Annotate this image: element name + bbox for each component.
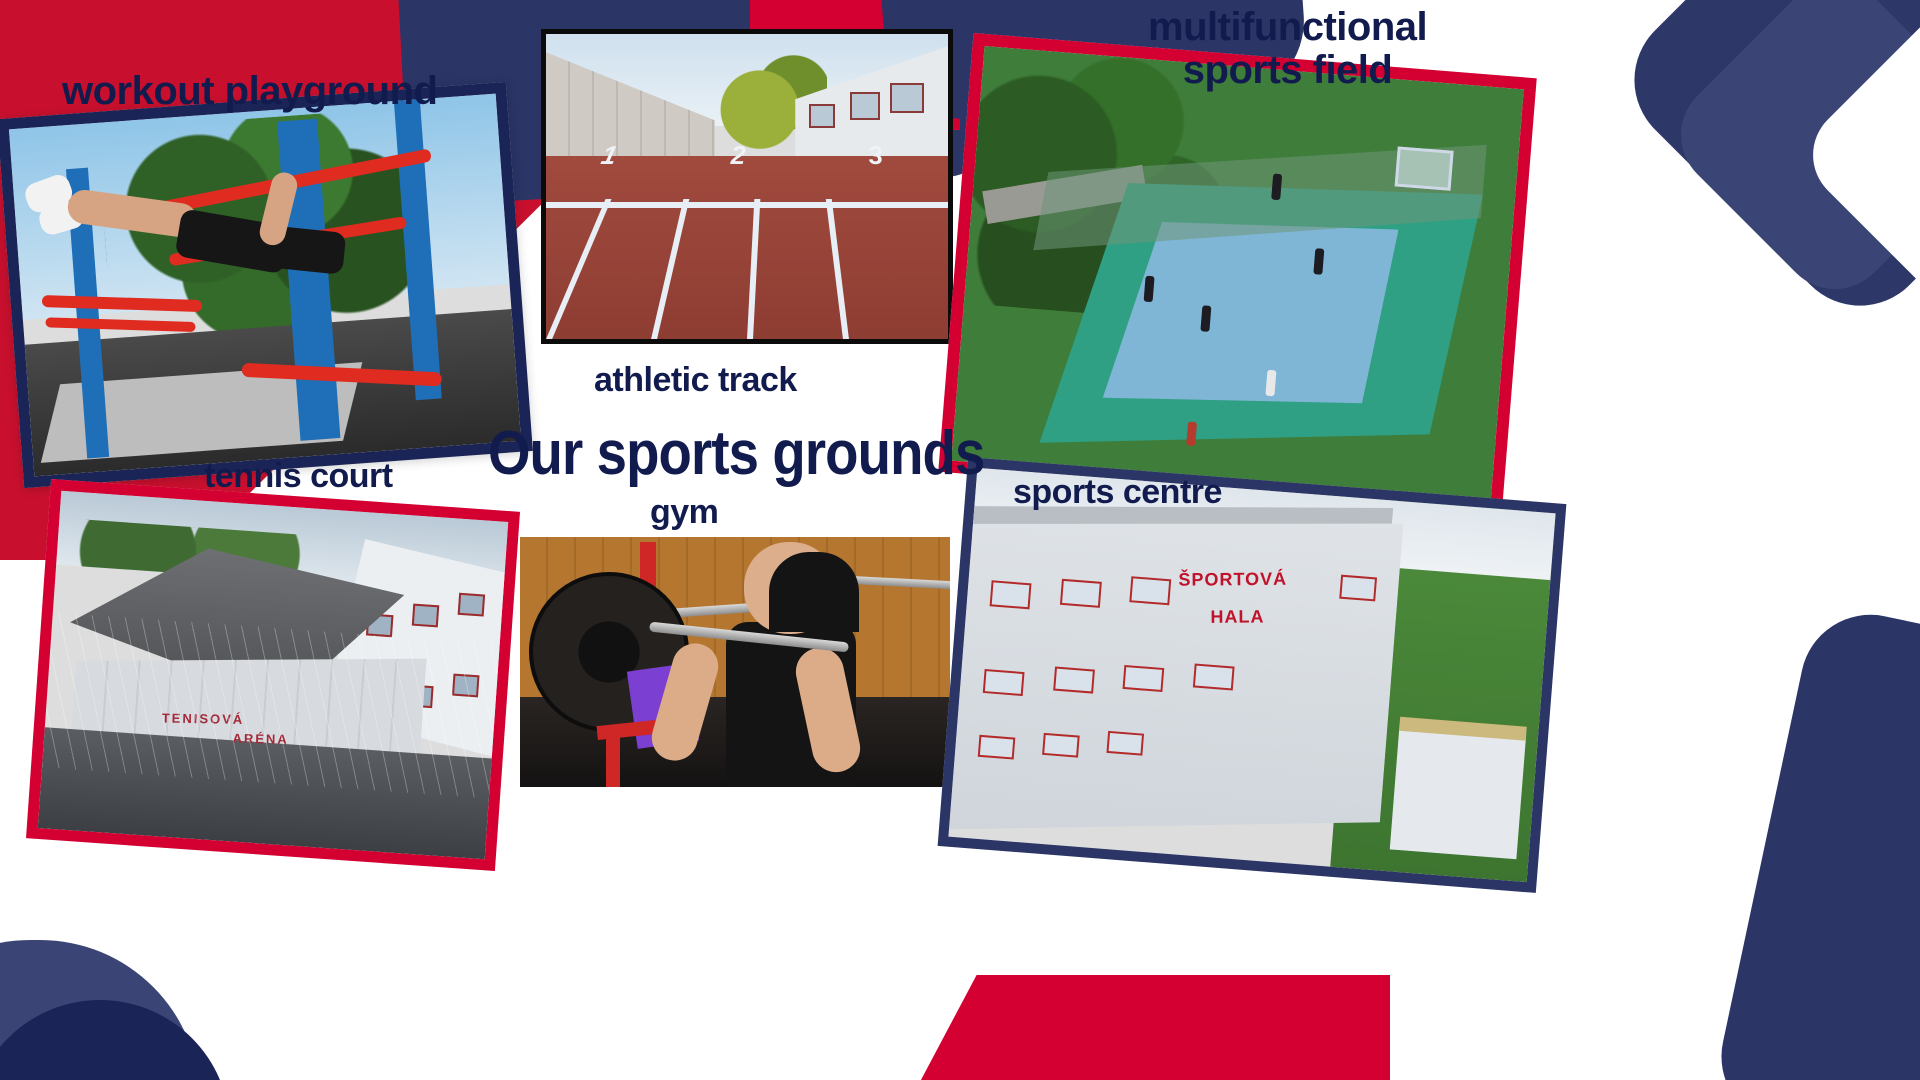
lifter-shirt-shoulder bbox=[769, 552, 859, 632]
photo-card-workout-playground[interactable] bbox=[0, 82, 533, 488]
photo-athletic-track: 1 2 3 bbox=[546, 34, 948, 339]
building-window bbox=[1042, 733, 1080, 758]
decor-red-trapezoid-bottom bbox=[860, 975, 1390, 1080]
sportova-sign-line1: ŠPORTOVÁ bbox=[1178, 569, 1287, 591]
label-field-line2: sports field bbox=[1148, 49, 1427, 92]
label-workout-playground: workout playground bbox=[62, 70, 437, 113]
building-window bbox=[990, 580, 1032, 609]
label-multifunctional-sports-field: multifunctional sports field bbox=[1148, 6, 1427, 92]
building-window bbox=[850, 92, 880, 120]
photo-sports-centre: ŠPORTOVÁ HALA bbox=[948, 468, 1555, 882]
building-window bbox=[1339, 574, 1377, 601]
start-line bbox=[546, 202, 948, 208]
chain-link-fence bbox=[42, 612, 500, 798]
poster-canvas: 1 2 3 bbox=[0, 0, 1920, 1080]
photo-card-multifunctional-sports-field[interactable] bbox=[938, 33, 1536, 517]
label-gym: gym bbox=[650, 494, 718, 531]
building-window bbox=[809, 104, 835, 128]
lane-number: 2 bbox=[730, 140, 746, 171]
sportova-sign-line2: HALA bbox=[1210, 607, 1264, 628]
decor-navy-shape-right-edge bbox=[1708, 602, 1920, 1080]
label-athletic-track: athletic track bbox=[594, 362, 797, 399]
player bbox=[1186, 421, 1197, 446]
photo-gym bbox=[520, 537, 950, 787]
bench-frame bbox=[606, 727, 620, 787]
label-tennis-court: tennis court bbox=[204, 458, 393, 495]
photo-card-gym[interactable] bbox=[520, 537, 950, 787]
building-window bbox=[412, 604, 439, 628]
building-window bbox=[890, 83, 924, 113]
track-surface bbox=[546, 156, 948, 339]
photo-card-sports-centre[interactable]: ŠPORTOVÁ HALA bbox=[938, 457, 1567, 893]
label-field-line1: multifunctional bbox=[1148, 6, 1427, 49]
page-title: Our sports grounds bbox=[488, 418, 984, 489]
photo-tennis-court: TENISOVÁ ARÉNA bbox=[38, 491, 508, 859]
photo-card-athletic-track[interactable]: 1 2 3 bbox=[541, 29, 953, 344]
building-window bbox=[1193, 663, 1235, 690]
building-window bbox=[1053, 667, 1095, 694]
building-window bbox=[1123, 665, 1165, 692]
building-window bbox=[1060, 578, 1102, 607]
building-window bbox=[978, 735, 1016, 760]
building-window bbox=[1106, 730, 1144, 755]
building-window bbox=[1130, 576, 1172, 605]
basketball-hoop bbox=[1395, 146, 1454, 190]
label-sports-centre: sports centre bbox=[1013, 474, 1222, 511]
building-window bbox=[983, 669, 1025, 696]
photo-multifunctional-sports-field bbox=[951, 46, 1524, 504]
photo-workout-playground bbox=[9, 94, 521, 477]
entrance-annex bbox=[1390, 724, 1527, 859]
photo-card-tennis-court[interactable]: TENISOVÁ ARÉNA bbox=[26, 479, 520, 871]
building-window bbox=[458, 593, 485, 617]
